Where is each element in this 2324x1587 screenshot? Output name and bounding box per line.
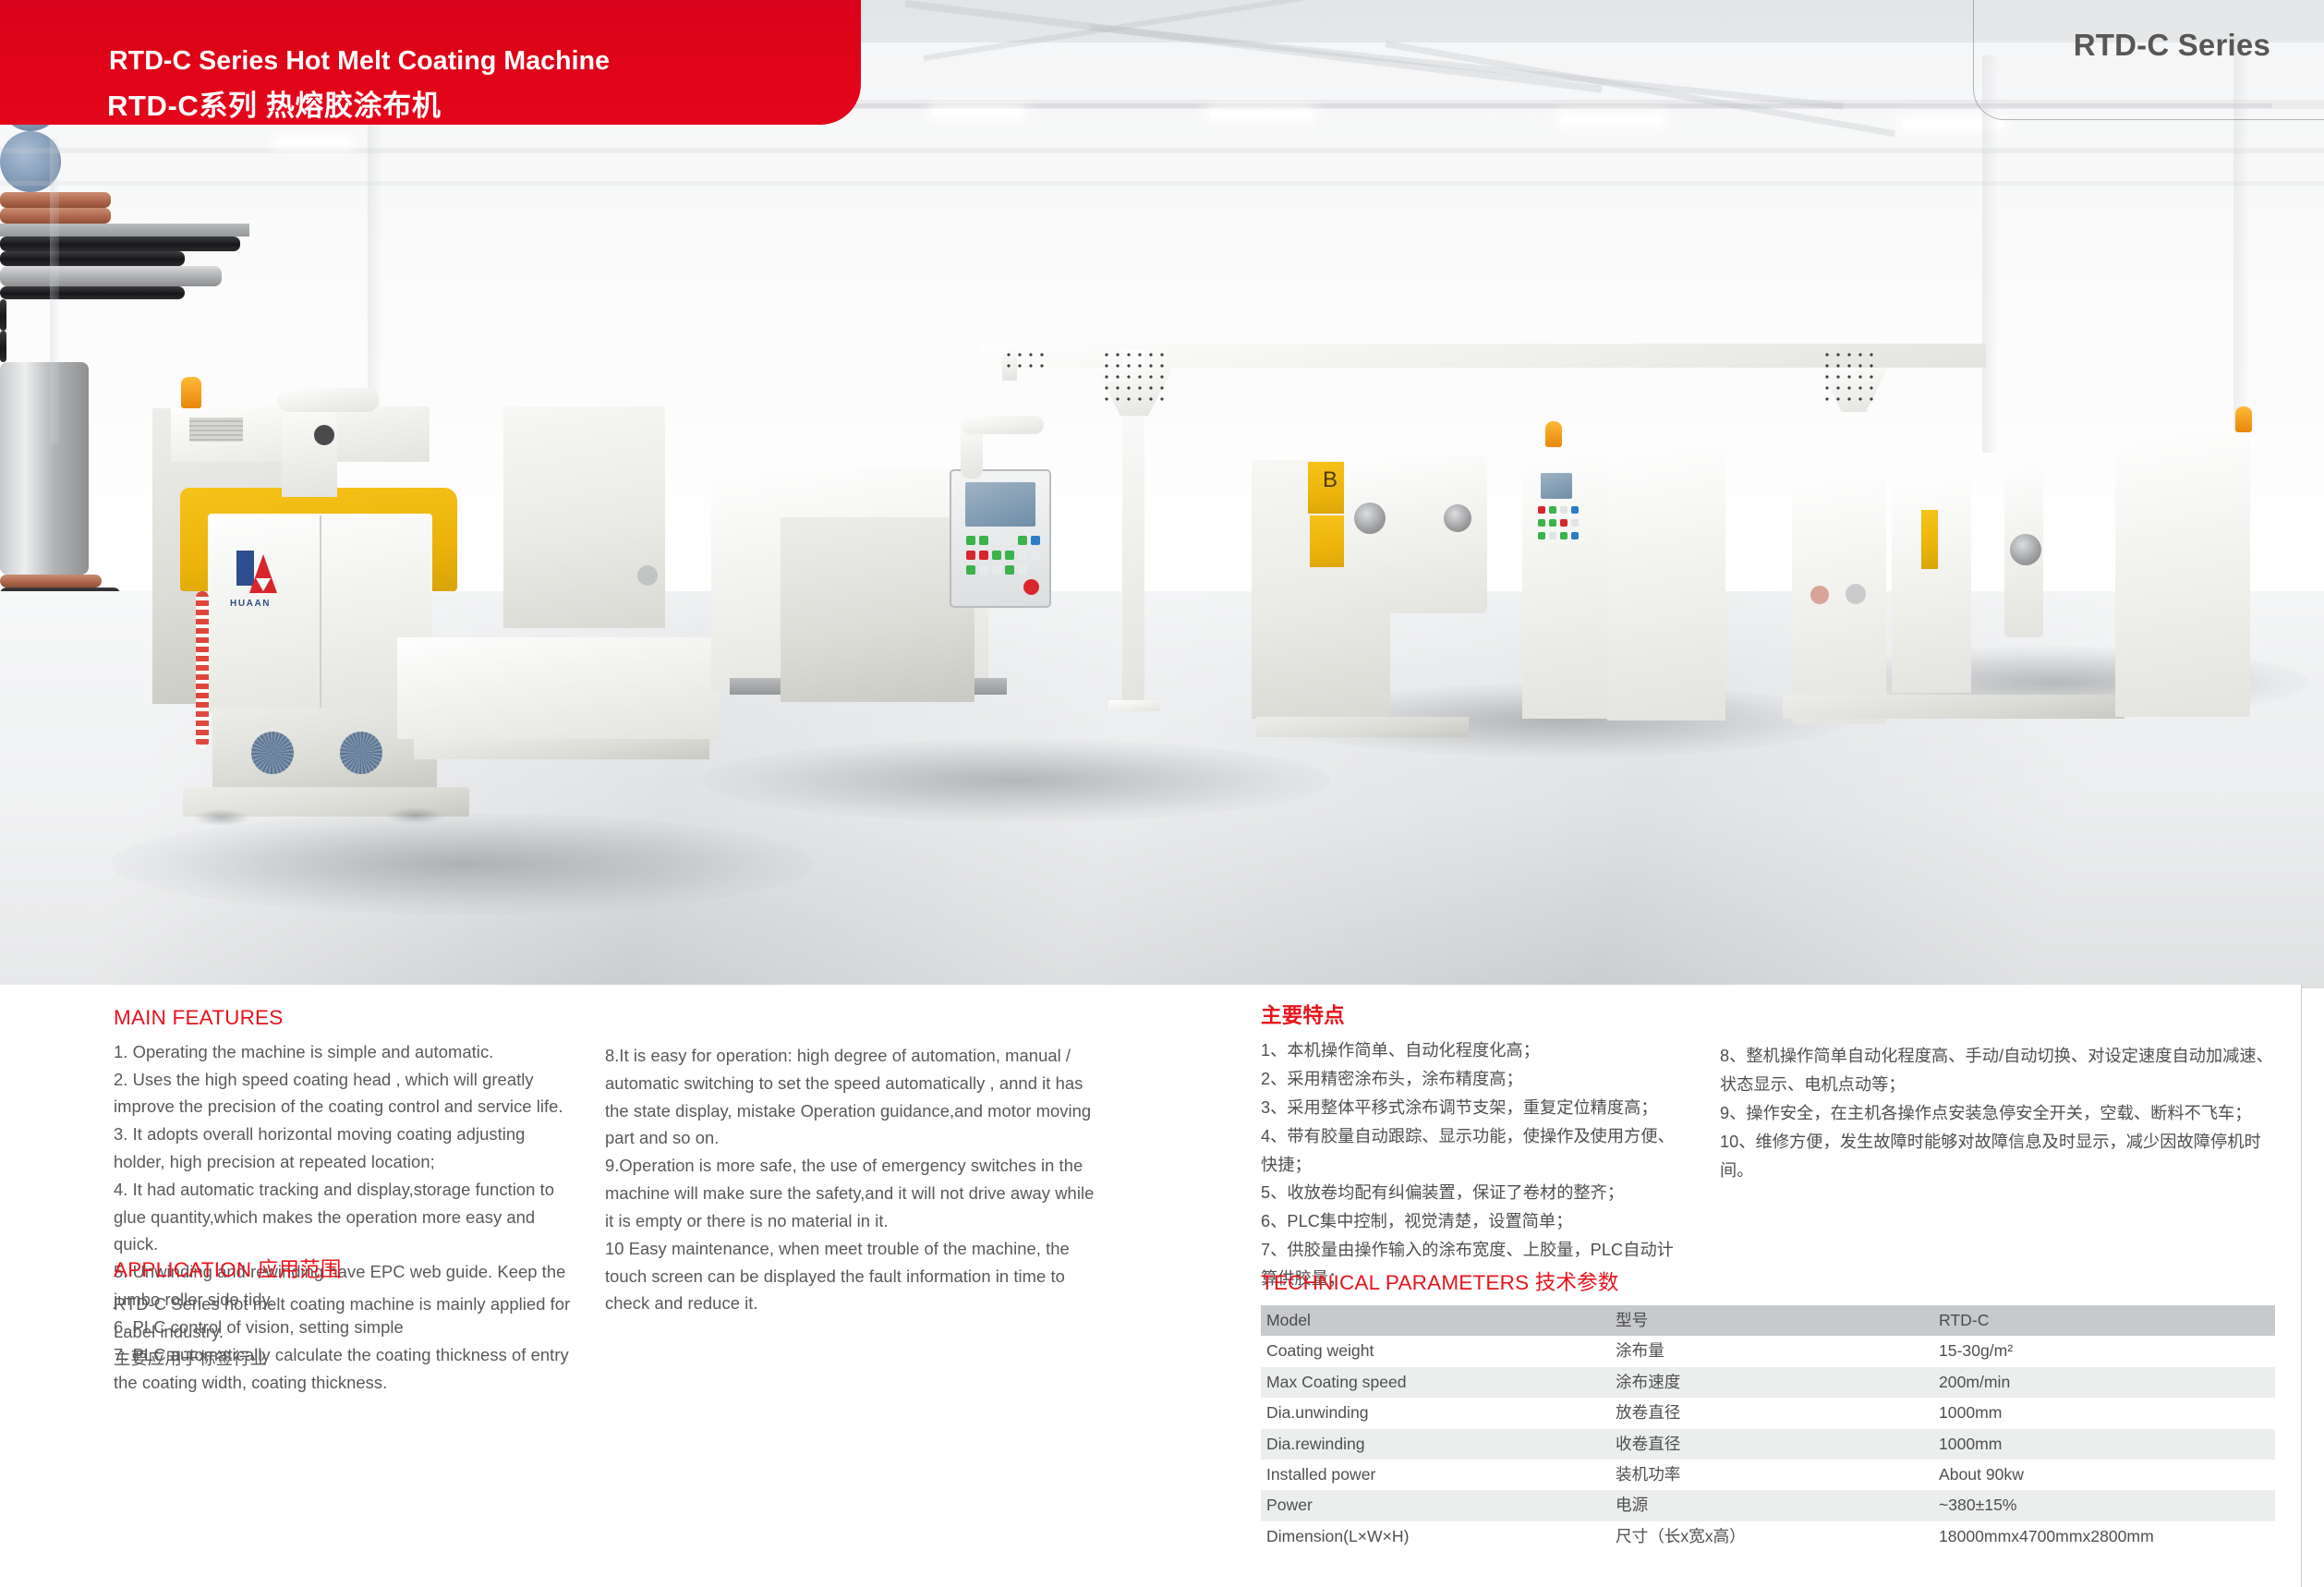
feature-item: 8.It is easy for operation: high degree … — [605, 1042, 1095, 1152]
huaan-logo — [236, 551, 279, 595]
web-roller — [0, 236, 240, 251]
table-row: Dimension(L×W×H)尺寸（长x宽x高）18000mmx4700mmx… — [1261, 1521, 2275, 1552]
technical-parameters-block: TECHNICAL PARAMETERS 技术参数 Model型号RTD-CCo… — [1261, 1272, 2277, 1552]
hmi-button-row — [966, 565, 1027, 575]
table-row: Installed power装机功率About 90kw — [1261, 1460, 2275, 1490]
yellow-guard — [1921, 510, 1938, 569]
application-line: 主要应用于标签行业 — [114, 1345, 594, 1373]
warning-beacon-icon — [181, 377, 201, 408]
features-cn-block-2: 8、整机操作简单自动化程度高、手动/自动切换、对设定速度自动加减速、状态显示、电… — [1720, 1042, 2274, 1185]
ceiling-light — [277, 139, 351, 145]
table-cell-cn: 涂布速度 — [1610, 1367, 1933, 1398]
feature-item-cn: 1、本机操作简单、自动化程度化高； — [1261, 1036, 1690, 1065]
chuck — [1354, 503, 1386, 534]
feature-item: 4. It had automatic tracking and display… — [114, 1176, 575, 1258]
table-cell-en: Dia.unwinding — [1261, 1398, 1610, 1428]
gantry-base-plate — [1108, 700, 1160, 711]
specs-table: Model型号RTD-CCoating weight涂布量15-30g/m²Ma… — [1261, 1305, 2275, 1553]
feature-item-cn: 4、带有胶量自动跟踪、显示功能，使操作及使用方便、快捷； — [1261, 1122, 1690, 1180]
table-row: Dia.unwinding放卷直径1000mm — [1261, 1398, 2275, 1428]
banner-title-cn: RTD-C系列 热熔胶涂布机 — [107, 82, 441, 124]
emergency-stop-button — [1023, 579, 1039, 595]
table-cell-en: Power — [1261, 1490, 1610, 1520]
warning-beacon-icon — [1545, 421, 1562, 447]
unwind-base — [1256, 717, 1469, 737]
unwind-frame — [503, 406, 665, 628]
application-line: RTD-C Series hot melt coating machine is… — [114, 1290, 594, 1346]
ceiling-light — [933, 109, 1022, 116]
table-row: Max Coating speed涂布速度200m/min — [1261, 1367, 2275, 1398]
chuck — [1444, 504, 1471, 532]
table-cell-en: Installed power — [1261, 1460, 1610, 1490]
hmi-support-arm — [961, 416, 1044, 434]
table-cell-en: Coating weight — [1261, 1336, 1610, 1366]
table-cell-value: 1000mm — [1933, 1429, 2275, 1460]
main-features-block-2: 8.It is easy for operation: high degree … — [605, 1042, 1095, 1317]
table-cell-cn: 放卷直径 — [1610, 1398, 1933, 1428]
unwind-bar — [0, 286, 185, 299]
unwind-shaft — [0, 266, 222, 286]
table-cell-value: 1000mm — [1933, 1398, 2275, 1428]
machine-foot-shadow — [388, 807, 443, 824]
tall-cabinet-handle — [0, 299, 6, 331]
table-cell-cn: 涂布量 — [1610, 1336, 1933, 1366]
table-cell-cn: 收卷直径 — [1610, 1429, 1933, 1460]
features-cn-list-2: 8、整机操作简单自动化程度高、手动/自动切换、对设定速度自动加减速、状态显示、电… — [1720, 1042, 2274, 1185]
main-features-list-2: 8.It is easy for operation: high degree … — [605, 1042, 1095, 1317]
banner-title-en: RTD-C Series Hot Melt Coating Machine — [109, 46, 610, 77]
machine-shadow — [111, 813, 813, 915]
red-coil-cable — [196, 591, 209, 748]
gantry-bolt-grid — [1101, 349, 1168, 406]
feature-item: 1. Operating the machine is simple and a… — [114, 1038, 575, 1066]
table-cell-cn: 尺寸（长x宽x高） — [1610, 1521, 1933, 1552]
unwind-side-plate — [1344, 456, 1487, 613]
warning-beacon-icon — [2235, 406, 2252, 432]
hand-wheel-icon — [314, 425, 334, 445]
tall-cabinet-handle — [0, 331, 6, 362]
table-cell-value: 15-30g/m² — [1933, 1336, 2275, 1366]
machine-foot-shadow — [194, 809, 249, 826]
rewinder-side-plate — [1792, 475, 1886, 724]
frame-hole — [1810, 586, 1829, 604]
wall-column — [50, 139, 59, 443]
table-row: Model型号RTD-C — [1261, 1305, 2275, 1336]
feature-item-cn: 6、PLC集中控制，视觉清楚，设置简单； — [1261, 1207, 1690, 1236]
feature-item-cn: 3、采用整体平移式涂布调节支架，重复定位精度高； — [1261, 1094, 1690, 1122]
feature-item-cn: 8、整机操作简单自动化程度高、手动/自动切换、对设定速度自动加减速、状态显示、电… — [1720, 1042, 2274, 1099]
brochure-page: HUAAN — [0, 0, 2324, 1587]
machine-letter-b: B — [1323, 467, 1338, 493]
ceiling-band — [0, 148, 2324, 153]
cabinet-button-row — [1538, 519, 1579, 527]
cabinet-hmi-screen — [1541, 473, 1572, 499]
feature-item: 2. Uses the high speed coating head , wh… — [114, 1066, 575, 1121]
table-cell-cn: 装机功率 — [1610, 1460, 1933, 1490]
machine-shadow — [702, 739, 1330, 822]
table-cell-value: RTD-C — [1933, 1305, 2275, 1336]
feature-item-cn: 2、采用精密涂布头，涂布精度高； — [1261, 1065, 1690, 1094]
table-cell-value: About 90kw — [1933, 1460, 2275, 1490]
application-block: APPLICATION 应用范围 RTD-C Series hot melt c… — [114, 1259, 594, 1373]
coating-head-top — [277, 388, 379, 412]
ceiling-light — [1210, 111, 1312, 118]
feature-item-cn: 10、维修方便，发生故障时能够对故障信息及时显示，减少因故障停机时间。 — [1720, 1128, 2274, 1185]
feature-item-cn: 5、收放卷均配有纠偏装置，保证了卷材的整齐； — [1261, 1179, 1690, 1207]
gantry-bolt-grid — [1003, 349, 1047, 375]
feature-item: 3. It adopts overall horizontal moving c… — [114, 1121, 575, 1176]
machine-table-leg — [414, 739, 709, 759]
huaan-logo-text: HUAAN — [230, 599, 271, 609]
chuck — [2010, 534, 2041, 565]
header-banner: RTD-C Series Hot Melt Coating Machine RT… — [0, 0, 861, 125]
table-cell-en: Model — [1261, 1305, 1610, 1336]
idler-roller — [0, 251, 185, 266]
table-row: Power电源~380±15% — [1261, 1490, 2275, 1520]
feature-item: 9.Operation is more safe, the use of eme… — [605, 1152, 1095, 1234]
feature-item-cn: 9、操作安全，在主机各操作点安装急停安全开关，空载、断料不飞车； — [1720, 1099, 2274, 1128]
table-cell-cn: 电源 — [1610, 1490, 1933, 1520]
features-cn-heading: 主要特点 — [1261, 1005, 1690, 1028]
machine-table — [397, 637, 720, 739]
motor-fan-cover — [251, 732, 294, 774]
table-cell-en: Dia.rewinding — [1261, 1429, 1610, 1460]
table-cell-value: ~380±15% — [1933, 1490, 2275, 1520]
slide-rail — [0, 224, 249, 236]
cabinet-button-row — [1538, 532, 1579, 539]
table-cell-value: 18000mmx4700mmx2800mm — [1933, 1521, 2275, 1552]
end-cabinet — [2115, 430, 2250, 717]
vent-grille — [189, 418, 243, 442]
technical-parameters-heading: TECHNICAL PARAMETERS 技术参数 — [1261, 1272, 2277, 1295]
series-tag: RTD-C Series — [2074, 28, 2270, 63]
content-panel: MAIN FEATURES 1. Operating the machine i… — [0, 985, 2302, 1587]
product-photo: HUAAN — [0, 0, 2324, 988]
tall-cabinet — [1607, 447, 1725, 721]
table-row: Coating weight涂布量15-30g/m² — [1261, 1336, 2275, 1366]
table-row: Dia.rewinding收卷直径1000mm — [1261, 1429, 2275, 1460]
frame-hole — [1846, 584, 1866, 604]
motor-fan-cover — [340, 732, 382, 774]
guide-roller — [0, 575, 102, 588]
main-features-heading: MAIN FEATURES — [114, 1007, 575, 1030]
feature-item: 10 Easy maintenance, when meet trouble o… — [605, 1235, 1095, 1317]
cabinet-door-split — [320, 515, 321, 710]
cabinet-button-row — [1538, 506, 1579, 514]
ceiling-light — [1561, 116, 1663, 124]
application-heading: APPLICATION 应用范围 — [114, 1259, 594, 1282]
hmi-screen — [965, 482, 1035, 527]
table-cell-en: Dimension(L×W×H) — [1261, 1521, 1610, 1552]
features-cn-block: 主要特点 1、本机操作简单、自动化程度化高； 2、采用精密涂布头，涂布精度高； … — [1261, 1005, 1690, 1293]
jumbo-roll — [0, 362, 89, 575]
table-cell-value: 200m/min — [1933, 1367, 2275, 1398]
frame-hole — [637, 565, 658, 586]
ceiling-band — [0, 181, 2324, 186]
hmi-button-row — [966, 551, 1040, 560]
gantry-bolt-grid — [1822, 349, 1877, 401]
table-cell-cn: 型号 — [1610, 1305, 1933, 1336]
rewinder-base — [1783, 695, 2124, 719]
table-cell-en: Max Coating speed — [1261, 1367, 1610, 1398]
hmi-button-row — [966, 536, 1040, 545]
features-cn-list-1: 1、本机操作简单、自动化程度化高； 2、采用精密涂布头，涂布精度高； 3、采用整… — [1261, 1036, 1690, 1293]
application-text: RTD-C Series hot melt coating machine is… — [114, 1290, 594, 1373]
web-frame — [781, 517, 974, 702]
